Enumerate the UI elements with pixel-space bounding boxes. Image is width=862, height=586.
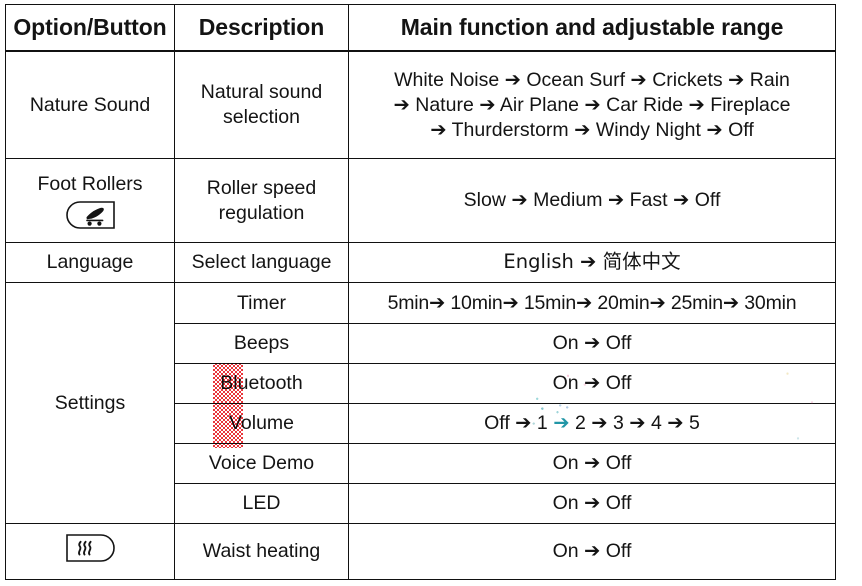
description-cell-voice-demo: Voice Demo	[175, 443, 349, 483]
range-cell-led: On ➔ Off	[349, 483, 836, 523]
table-row-foot-rollers: Foot Rollers	[6, 159, 836, 243]
arrow-icon: ➔	[515, 412, 531, 434]
option-cell-settings: Settings	[6, 283, 175, 523]
range-cell-beeps: On ➔ Off	[349, 323, 836, 363]
range-text-led: On ➔ Off	[553, 492, 632, 514]
description-cell-language: Select language	[175, 243, 349, 283]
option-cell-waist-heating	[6, 523, 175, 579]
table-header-row: Option/Button Description Main function …	[6, 5, 836, 52]
description-cell-volume: Volume	[175, 403, 349, 443]
table-row-nature-sound: Nature Sound Natural sound selection Whi…	[6, 51, 836, 158]
range-cell-voice-demo: On ➔ Off	[349, 443, 836, 483]
option-label-foot-rollers: Foot Rollers	[37, 172, 142, 197]
option-cell-foot-rollers: Foot Rollers	[6, 159, 175, 243]
range-line-1: White Noise ➔ Ocean Surf ➔ Crickets ➔ Ra…	[353, 68, 831, 93]
arrow-icon: ➔	[591, 412, 607, 434]
range-cell-volume: Off ➔ 1 ➔ 2 ➔ 3 ➔ 4 ➔ 5	[349, 403, 836, 443]
description-cell-foot-rollers: Roller speed regulation	[175, 159, 349, 243]
table-row-language: Language Select language English ➔ 简体中文	[6, 243, 836, 283]
range-line-2: ➔ Nature ➔ Air Plane ➔ Car Ride ➔ Firepl…	[353, 93, 831, 118]
range-cell-foot-rollers: Slow ➔ Medium ➔ Fast ➔ Off	[349, 159, 836, 243]
table-row-waist-heating: Waist heating On ➔ Off	[6, 523, 836, 579]
column-header-description: Description	[175, 5, 349, 52]
description-cell-nature-sound: Natural sound selection	[175, 51, 349, 158]
table-row-timer: Settings Timer 5min➔ 10min➔ 15min➔ 20min…	[6, 283, 836, 323]
range-cell-waist-heating: On ➔ Off	[349, 523, 836, 579]
description-cell-beeps: Beeps	[175, 323, 349, 363]
spec-table-sheet: Option/Button Description Main function …	[0, 0, 862, 586]
range-cell-bluetooth: On ➔ Off	[349, 363, 836, 403]
column-header-option: Option/Button	[6, 5, 175, 52]
option-button-spec-table: Option/Button Description Main function …	[5, 4, 836, 580]
waist-heating-badge-icon[interactable]	[63, 533, 117, 563]
description-cell-timer: Timer	[175, 283, 349, 323]
range-cell-timer: 5min➔ 10min➔ 15min➔ 20min➔ 25min➔ 30min	[349, 283, 836, 323]
description-cell-bluetooth: Bluetooth	[175, 363, 349, 403]
description-cell-waist-heating: Waist heating	[175, 523, 349, 579]
arrow-icon: ➔	[667, 412, 683, 434]
arrow-icon: ➔	[629, 412, 645, 434]
range-cell-nature-sound: White Noise ➔ Ocean Surf ➔ Crickets ➔ Ra…	[349, 51, 836, 158]
option-cell-language: Language	[6, 243, 175, 283]
range-line-3: ➔ Thurderstorm ➔ Windy Night ➔ Off	[353, 118, 831, 143]
range-cell-language: English ➔ 简体中文	[349, 243, 836, 283]
column-header-range: Main function and adjustable range	[349, 5, 836, 52]
option-cell-nature-sound: Nature Sound	[6, 51, 175, 158]
foot-roller-badge-icon[interactable]	[64, 200, 116, 230]
description-cell-led: LED	[175, 483, 349, 523]
teal-tinted-arrow-icon: ➔	[553, 412, 569, 434]
